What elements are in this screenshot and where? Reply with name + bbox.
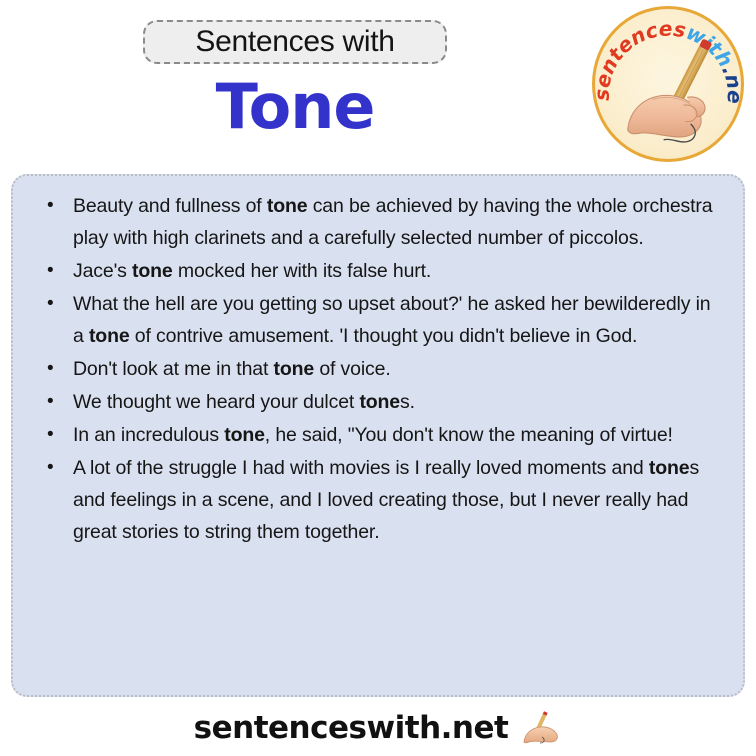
- sentence-item: What the hell are you getting so upset a…: [27, 288, 725, 352]
- hand-writing-pencil-icon: [518, 711, 562, 745]
- sentence-item: Jace's tone mocked her with its false hu…: [27, 255, 725, 287]
- page-title-word: Tone: [143, 76, 447, 138]
- sentence-text: In an incredulous: [73, 424, 224, 446]
- sentence-text: mocked her with its false hurt.: [173, 260, 432, 282]
- sentence-text: of contrive amusement. 'I thought you di…: [130, 325, 638, 347]
- sentence-item: Don't look at me in that tone of voice.: [27, 353, 725, 385]
- keyword-highlight: tone: [359, 391, 400, 413]
- sentence-text: of voice.: [314, 358, 391, 380]
- sentence-text: s.: [400, 391, 415, 413]
- footer: sentenceswith.net: [0, 700, 756, 756]
- sentence-item: In an incredulous tone, he said, "You do…: [27, 419, 725, 451]
- sentences-panel: Beauty and fullness of tone can be achie…: [11, 174, 745, 697]
- keyword-highlight: tone: [132, 260, 173, 282]
- sentence-list: Beauty and fullness of tone can be achie…: [27, 190, 725, 548]
- title-chip: Sentences with: [143, 20, 447, 64]
- logo-disc: sentenceswith.net: [592, 6, 744, 162]
- sentence-text: , he said, "You don't know the meaning o…: [265, 424, 673, 446]
- keyword-highlight: tone: [89, 325, 130, 347]
- keyword-highlight: tone: [274, 358, 315, 380]
- hand-writing-pencil-logo: sentenceswith.net: [595, 9, 741, 159]
- sentence-text: We thought we heard your dulcet: [73, 391, 359, 413]
- keyword-highlight: tone: [649, 457, 690, 479]
- keyword-highlight: tone: [224, 424, 265, 446]
- keyword-highlight: tone: [267, 195, 308, 217]
- sentence-item: We thought we heard your dulcet tones.: [27, 386, 725, 418]
- sentence-item: A lot of the struggle I had with movies …: [27, 452, 725, 548]
- footer-site-name: sentenceswith.net: [194, 710, 509, 746]
- sentence-text: A lot of the struggle I had with movies …: [73, 457, 649, 479]
- poster-page: Sentences with Tone: [0, 0, 756, 756]
- sentence-text: Beauty and fullness of: [73, 195, 267, 217]
- sentence-item: Beauty and fullness of tone can be achie…: [27, 190, 725, 254]
- title-chip-label: Sentences with: [195, 25, 394, 59]
- svg-text:sentenceswith.net: sentenceswith.net: [595, 9, 741, 104]
- sentence-text: Don't look at me in that: [73, 358, 274, 380]
- site-logo[interactable]: sentenceswith.net: [592, 6, 744, 162]
- sentence-text: Jace's: [73, 260, 132, 282]
- header: Sentences with Tone: [0, 0, 756, 172]
